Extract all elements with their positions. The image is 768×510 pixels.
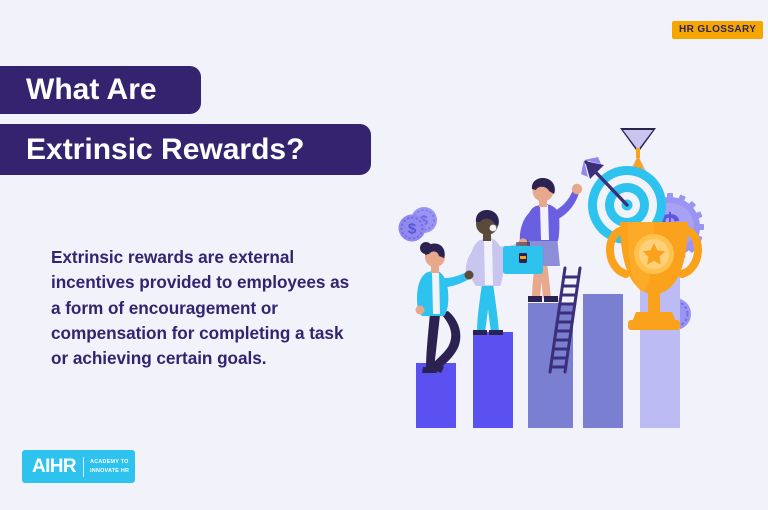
- page-title-line-2: Extrinsic Rewards?: [26, 135, 304, 165]
- bar-2: [473, 332, 513, 428]
- svg-text:$: $: [408, 221, 417, 238]
- logo-divider: [83, 457, 84, 477]
- hr-glossary-badge-label: HR GLOSSARY: [679, 25, 756, 35]
- person-standing-3: [503, 178, 582, 302]
- title-banner-line-2: Extrinsic Rewards?: [0, 124, 371, 175]
- aihr-wordmark: AIHR: [32, 457, 76, 476]
- dollar-coin-left-front: $: [399, 215, 426, 242]
- trophy-star-medallion: [634, 234, 674, 274]
- aihr-tagline: ACADEMY TO INNOVATE HR: [90, 458, 129, 474]
- poster-canvas: HR GLOSSARY What Are Extrinsic Rewards? …: [0, 0, 768, 510]
- hr-glossary-badge: HR GLOSSARY: [672, 21, 763, 39]
- page-title-line-1: What Are: [26, 75, 157, 105]
- aihr-logo: AIHR ACADEMY TO INNOVATE HR: [22, 450, 135, 483]
- aihr-tagline-line-2: INNOVATE HR: [90, 467, 129, 475]
- briefcase-icon: [503, 242, 543, 274]
- bar-chart-climb-illustration: $ $ $: [390, 110, 768, 440]
- aihr-tagline-line-1: ACADEMY TO: [90, 458, 129, 466]
- definition-paragraph: Extrinsic rewards are external incentive…: [51, 245, 361, 371]
- bar-4: [583, 294, 623, 428]
- title-banner-line-1: What Are: [0, 66, 201, 114]
